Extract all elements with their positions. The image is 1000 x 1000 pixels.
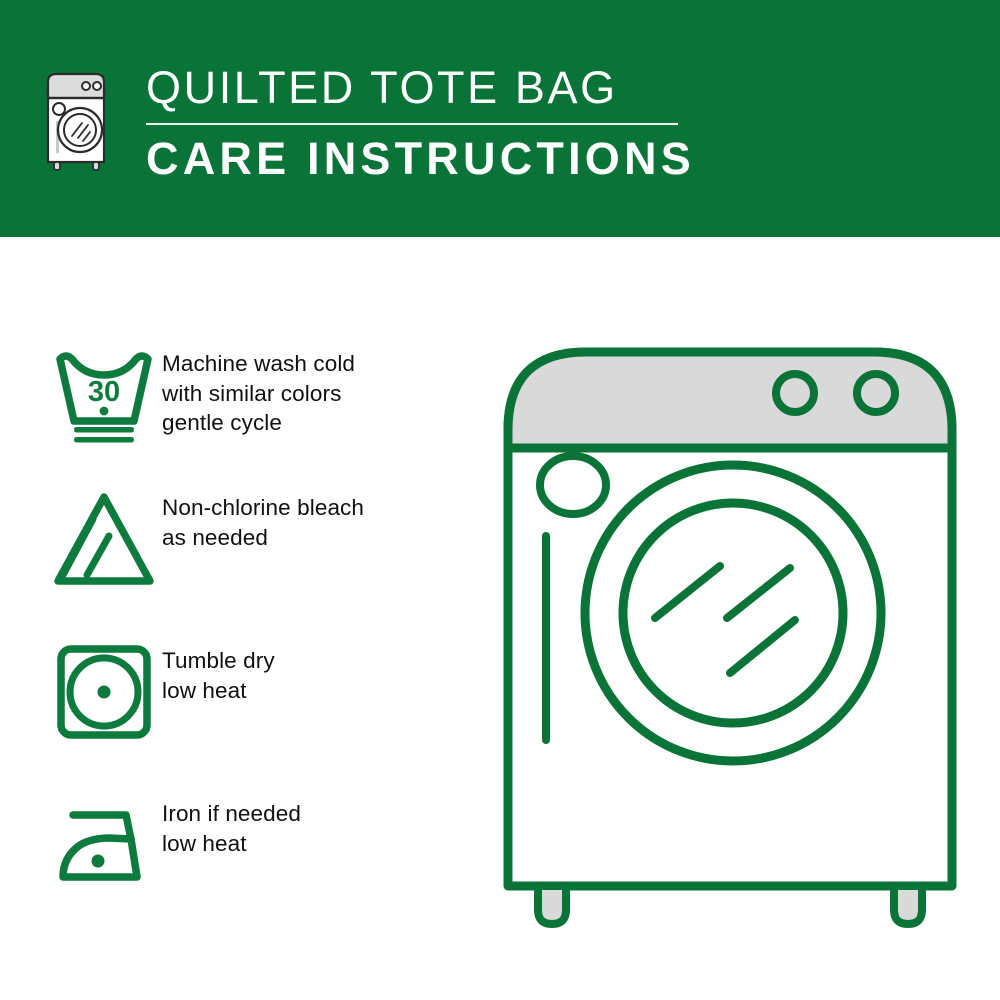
machine-leg-right xyxy=(894,886,922,924)
machine-knob-1 xyxy=(776,374,814,412)
care-label-line: as needed xyxy=(162,523,364,553)
header-banner: QUILTED TOTE BAG CARE INSTRUCTIONS xyxy=(0,0,1000,237)
iron-icon xyxy=(52,795,162,895)
care-row-iron: Iron if needed low heat xyxy=(52,795,472,895)
care-instructions-page: QUILTED TOTE BAG CARE INSTRUCTIONS 30 Ma… xyxy=(0,0,1000,1000)
care-row-bleach: Non-chlorine bleach as needed xyxy=(52,489,472,589)
care-label-line: gentle cycle xyxy=(162,408,355,438)
tumble-dry-icon xyxy=(52,642,162,742)
page-subtitle: CARE INSTRUCTIONS xyxy=(146,132,706,186)
care-label-line: Machine wash cold xyxy=(162,349,355,379)
detergent-dispenser-icon xyxy=(540,456,606,514)
care-label-line: low heat xyxy=(162,676,275,706)
washing-machine-logo-icon xyxy=(42,68,116,173)
machine-knob-2 xyxy=(857,374,895,412)
bleach-triangle-icon xyxy=(52,489,162,589)
header-title-group: QUILTED TOTE BAG CARE INSTRUCTIONS xyxy=(146,62,706,186)
care-label-line: Iron if needed xyxy=(162,799,301,829)
machine-leg-left xyxy=(538,886,566,924)
wash-bar-1 xyxy=(74,427,134,433)
care-label-bleach: Non-chlorine bleach as needed xyxy=(162,489,364,552)
title-divider xyxy=(146,123,678,125)
wash-dot-icon xyxy=(100,407,109,416)
care-label-line: low heat xyxy=(162,829,301,859)
care-label-line: with similar colors xyxy=(162,379,355,409)
care-instructions-list: 30 Machine wash cold with similar colors… xyxy=(0,237,470,1000)
care-label-tumble-dry: Tumble dry low heat xyxy=(162,642,275,705)
care-label-line: Tumble dry xyxy=(162,646,275,676)
care-label-line: Non-chlorine bleach xyxy=(162,493,364,523)
bleach-diagonal-2 xyxy=(87,536,109,575)
washing-machine-illustration xyxy=(490,330,970,940)
page-title: QUILTED TOTE BAG xyxy=(146,62,706,114)
care-label-iron: Iron if needed low heat xyxy=(162,795,301,858)
wash-tub-icon: 30 xyxy=(52,345,162,445)
care-row-machine-wash: 30 Machine wash cold with similar colors… xyxy=(52,345,472,445)
care-label-machine-wash: Machine wash cold with similar colors ge… xyxy=(162,345,355,438)
wash-bar-2 xyxy=(74,437,134,443)
care-row-tumble-dry: Tumble dry low heat xyxy=(52,642,472,742)
tumble-dry-dot-icon xyxy=(98,686,111,699)
wash-temperature-value: 30 xyxy=(88,376,120,408)
iron-dot-icon xyxy=(92,855,105,868)
